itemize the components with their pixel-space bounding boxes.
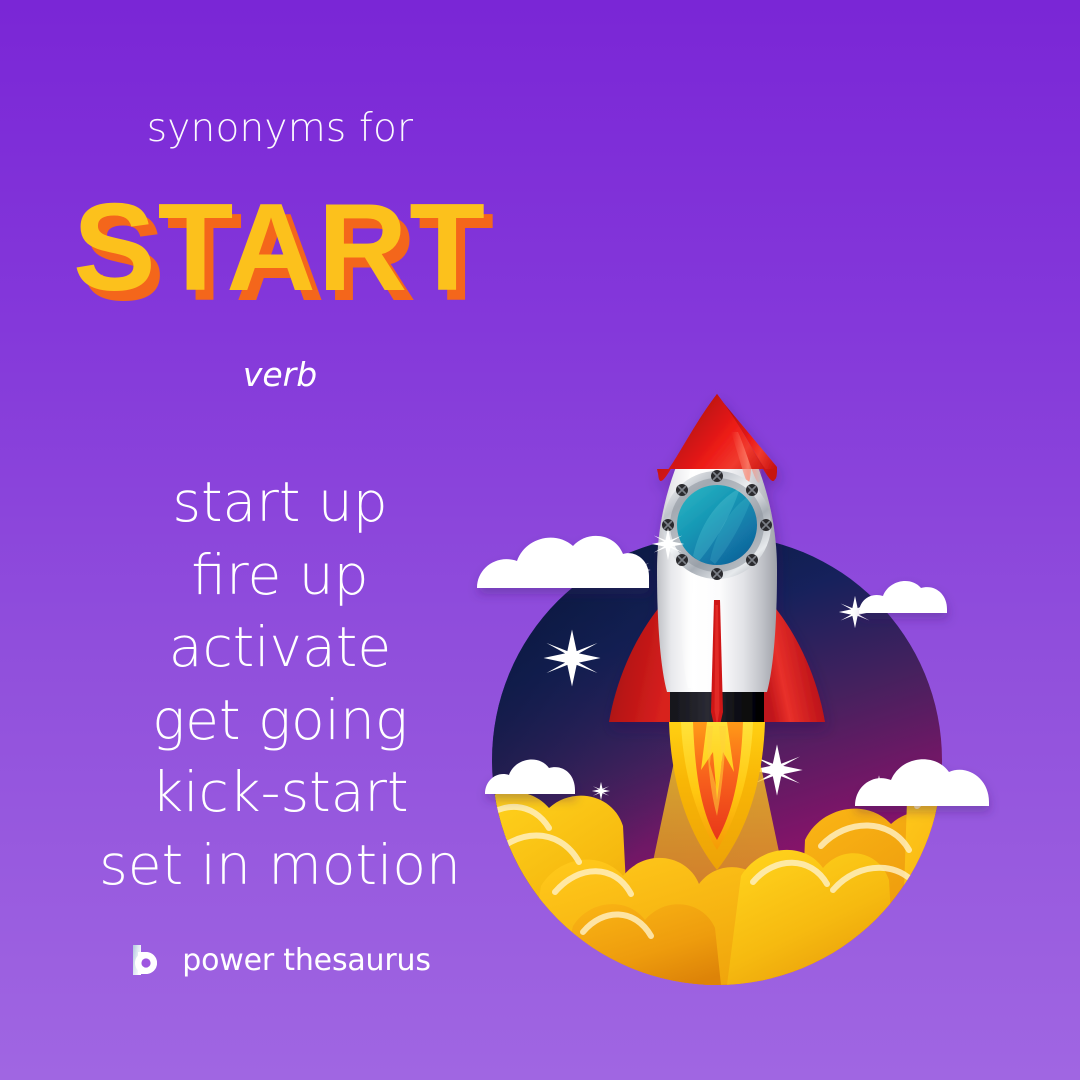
list-item[interactable]: set in motion xyxy=(0,829,560,902)
list-item[interactable]: activate xyxy=(0,611,560,684)
power-thesaurus-b-logo-icon xyxy=(129,942,165,978)
star-sparkle-icon xyxy=(901,547,924,570)
text-column: synonyms for START verb start up fire up… xyxy=(0,0,560,1080)
list-item[interactable]: fire up xyxy=(0,539,560,612)
list-item[interactable]: start up xyxy=(0,466,560,539)
cloud-upper-right xyxy=(859,581,947,613)
part-of-speech-label: verb xyxy=(0,355,560,394)
synonym-list: start up fire up activate get going kick… xyxy=(0,466,560,901)
page-title: START xyxy=(0,186,560,310)
list-item[interactable]: kick-start xyxy=(0,756,560,829)
poster-canvas: synonyms for START verb start up fire up… xyxy=(0,0,1080,1080)
brand-lockup[interactable]: power thesaurus xyxy=(0,942,560,978)
kicker-label: synonyms for xyxy=(0,106,560,151)
brand-name: power thesaurus xyxy=(182,943,431,978)
list-item[interactable]: get going xyxy=(0,684,560,757)
